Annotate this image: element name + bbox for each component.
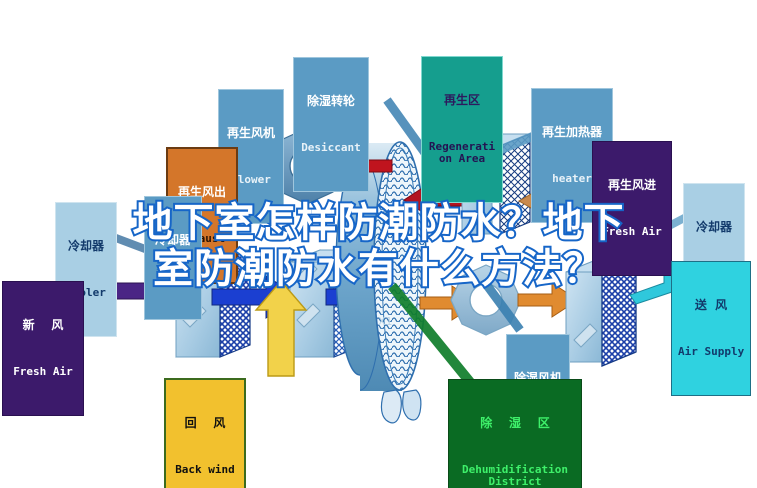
label-back-wind: 回 风 Back wind [164, 378, 246, 488]
label-desiccant-rotor: 除湿转轮 Desiccant [293, 57, 369, 192]
label-fresh-air-in: 新 风 Fresh Air [2, 281, 84, 416]
headline-line-1: 地下室怎样防潮防水？地下 [0, 200, 757, 246]
headline-line-2: 室防潮防水有什么方法？ [0, 246, 757, 292]
label-dehumidification-district-en: Dehumidification District [455, 464, 575, 488]
label-air-supply-en: Air Supply [678, 346, 744, 358]
label-regeneration-area-cn: 再生区 [428, 94, 496, 107]
label-dehumidification-district-cn: 除 湿 区 [455, 417, 575, 430]
condensate-drop [381, 390, 401, 423]
label-regeneration-area-en: Regenerati on Area [428, 141, 496, 165]
label-fresh-air-in-cn: 新 风 [9, 319, 77, 332]
label-regen-heater-cn: 再生加热器 [538, 126, 606, 139]
label-back-wind-en: Back wind [172, 464, 238, 476]
label-fresh-air-in-en: Fresh Air [9, 366, 77, 378]
label-regeneration-area: 再生区 Regenerati on Area [421, 56, 503, 203]
headline-overlay: 地下室怎样防潮防水？地下 室防潮防水有什么方法？ [0, 200, 757, 292]
svg-text:X1: X1 [378, 315, 393, 328]
label-back-wind-cn: 回 风 [172, 417, 238, 430]
label-air-supply-cn: 送 风 [678, 299, 744, 312]
label-regen-fresh-air-cn: 再生风进 [599, 179, 665, 192]
label-desiccant-rotor-cn: 除湿转轮 [300, 95, 362, 108]
label-dehumidification-district: 除 湿 区 Dehumidification District [448, 379, 582, 488]
label-desiccant-rotor-en: Desiccant [300, 142, 362, 154]
label-regen-blower-cn: 再生风机 [225, 127, 277, 140]
screenshot-canvas: X1 [0, 0, 757, 488]
